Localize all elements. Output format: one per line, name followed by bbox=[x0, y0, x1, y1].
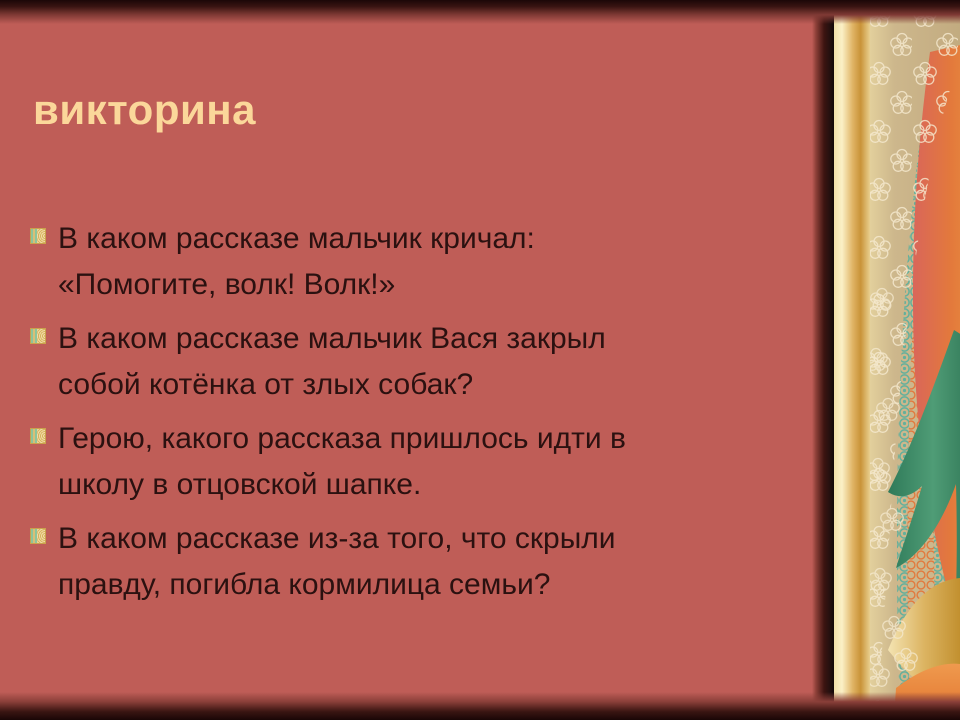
list-item-text: В каком рассказе из-за того, что скрыли … bbox=[58, 516, 616, 608]
decorative-square-ornament-icon bbox=[30, 428, 46, 444]
list-item-line1: В каком рассказе из-за того, что скрыли bbox=[58, 522, 616, 555]
floral-pattern-overlay bbox=[866, 0, 960, 720]
floral-ribbon-border bbox=[812, 0, 960, 720]
list-item-line2: «Помогите, волк! Волк!» bbox=[58, 268, 395, 301]
decorative-square-ornament-icon bbox=[30, 528, 46, 544]
list-item-line1: Герою, какого рассказа пришлось идти в bbox=[58, 422, 626, 455]
slide-content-area: викторина В каком рассказе мальчик крича… bbox=[0, 0, 812, 720]
border-shadow-edge bbox=[812, 0, 834, 720]
list-item-text: В каком рассказе мальчик Вася закрыл соб… bbox=[58, 316, 606, 408]
list-item-text: Герою, какого рассказа пришлось идти в ш… bbox=[58, 416, 626, 508]
decorative-square-ornament-icon bbox=[30, 328, 46, 344]
decorative-square-ornament-icon bbox=[30, 228, 46, 244]
question-list: В каком рассказе мальчик кричал: «Помоги… bbox=[30, 216, 790, 616]
list-item: В каком рассказе мальчик кричал: «Помоги… bbox=[30, 216, 790, 308]
list-item-line1: В каком рассказе мальчик Вася закрыл bbox=[58, 322, 606, 355]
list-item-line2: правду, погибла кормилица семьи? bbox=[58, 568, 550, 601]
list-item: В каком рассказе мальчик Вася закрыл соб… bbox=[30, 316, 790, 408]
border-gold-ribbon bbox=[834, 0, 870, 720]
list-item-line2: собой котёнка от злых собак? bbox=[58, 368, 473, 401]
slide-canvas: викторина В каком рассказе мальчик крича… bbox=[0, 0, 960, 720]
list-item: Герою, какого рассказа пришлось идти в ш… bbox=[30, 416, 790, 508]
list-item: В каком рассказе из-за того, что скрыли … bbox=[30, 516, 790, 608]
page-title: викторина bbox=[33, 85, 256, 135]
list-item-text: В каком рассказе мальчик кричал: «Помоги… bbox=[58, 216, 535, 308]
list-item-line1: В каком рассказе мальчик кричал: bbox=[58, 222, 535, 255]
list-item-line2: школу в отцовской шапке. bbox=[58, 468, 421, 501]
